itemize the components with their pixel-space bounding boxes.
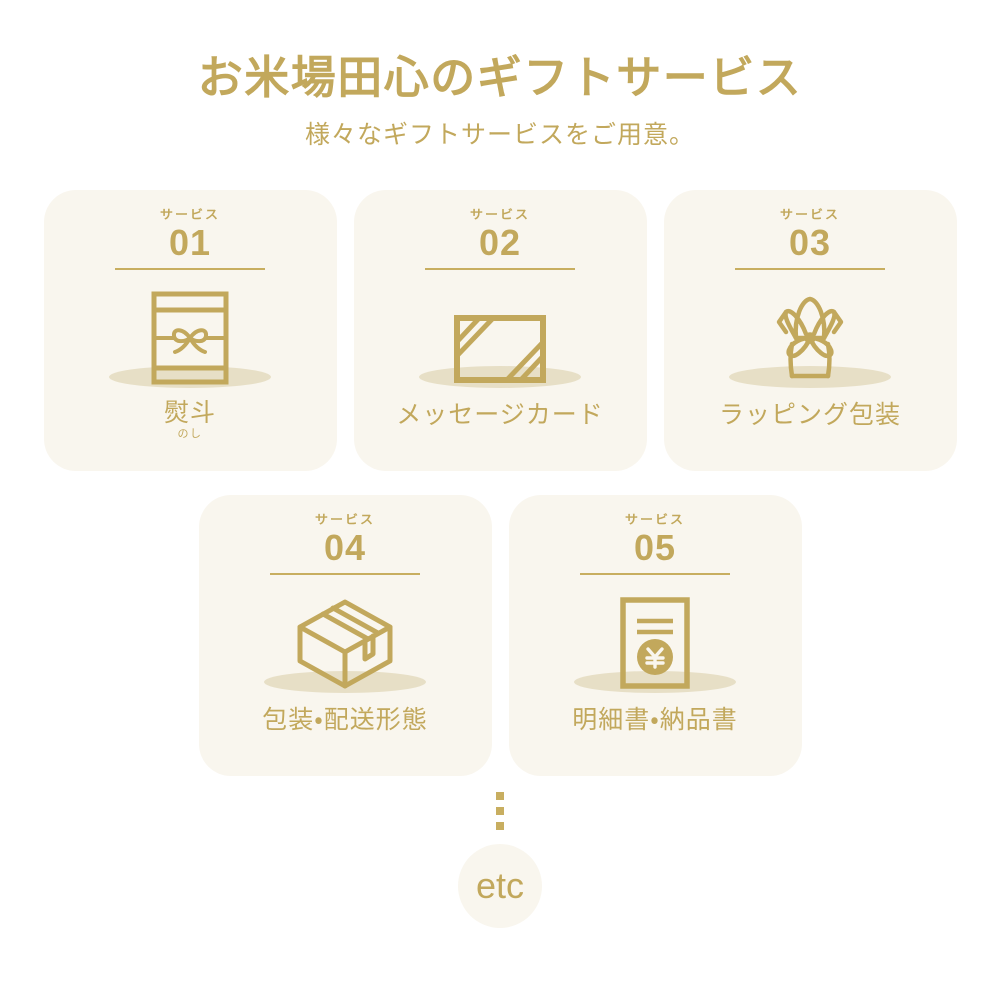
dot — [496, 792, 504, 800]
icon-area — [100, 284, 280, 388]
icon-area — [410, 284, 590, 388]
service-title: メッセージカード — [396, 400, 604, 430]
service-title-ruby: のし — [178, 429, 203, 440]
etc-badge: etc — [458, 844, 542, 928]
icon-area — [565, 589, 745, 693]
service-title: 包装・配送形態 — [262, 705, 428, 735]
service-number: 05 — [634, 529, 676, 567]
service-label: サービス — [780, 208, 840, 220]
gift-wrapping-bag-icon — [766, 288, 854, 386]
service-card-04[interactable]: サービス 04 包装・配送形態 — [199, 495, 492, 776]
divider — [115, 268, 265, 270]
vertical-dots-icon — [496, 792, 504, 830]
service-card-row-top: サービス 01 熨斗 のし — [0, 190, 1000, 471]
service-number: 01 — [169, 224, 211, 262]
icon-area — [255, 589, 435, 693]
divider — [735, 268, 885, 270]
divider — [270, 573, 420, 575]
service-number: 03 — [789, 224, 831, 262]
service-label: サービス — [315, 513, 375, 525]
noshi-envelope-icon — [149, 290, 231, 386]
gift-services-infographic: お米場田心のギフトサービス 様々なギフトサービスをご用意。 サービス 01 — [0, 0, 1000, 1000]
page-title: お米場田心のギフトサービス — [0, 52, 1000, 104]
dot — [496, 822, 504, 830]
service-title: 熨斗 — [164, 398, 216, 428]
service-title: 明細書・納品書 — [572, 705, 738, 735]
page-subtitle: 様々なギフトサービスをご用意。 — [0, 120, 1000, 150]
divider — [425, 268, 575, 270]
header: お米場田心のギフトサービス 様々なギフトサービスをご用意。 — [0, 0, 1000, 150]
service-card-01[interactable]: サービス 01 熨斗 のし — [44, 190, 337, 471]
divider — [580, 573, 730, 575]
service-card-05[interactable]: サービス 05 明 — [509, 495, 802, 776]
service-label: サービス — [625, 513, 685, 525]
service-number: 04 — [324, 529, 366, 567]
service-title: ラッピング包装 — [719, 400, 901, 430]
service-card-02[interactable]: サービス 02 — [354, 190, 647, 471]
shipping-box-icon — [293, 597, 397, 691]
etc-label: etc — [476, 868, 524, 904]
icon-area — [720, 284, 900, 388]
service-label: サービス — [470, 208, 530, 220]
service-number: 02 — [479, 224, 521, 262]
invoice-document-icon — [617, 595, 693, 691]
service-label: サービス — [160, 208, 220, 220]
dot — [496, 807, 504, 815]
service-card-row-bottom: サービス 04 包装・配送形態 サー — [0, 495, 1000, 776]
service-card-03[interactable]: サービス 03 — [664, 190, 957, 471]
message-card-icon — [451, 312, 549, 386]
etc-footer: etc — [0, 792, 1000, 928]
